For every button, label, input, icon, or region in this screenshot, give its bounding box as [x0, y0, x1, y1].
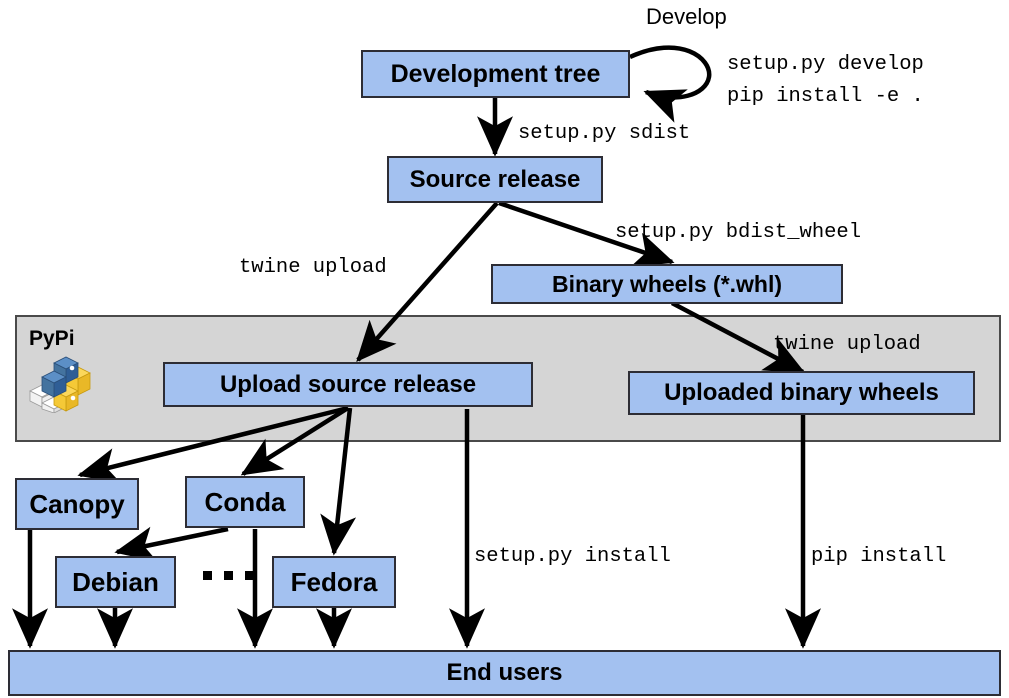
label-pip-install: pip install	[811, 544, 946, 571]
node-canopy[interactable]: Canopy	[15, 478, 139, 530]
node-conda[interactable]: Conda	[185, 476, 305, 528]
ellipsis-dot	[224, 571, 233, 580]
ellipsis-dots	[203, 571, 254, 580]
label-twine-upload-source: twine upload	[239, 255, 387, 282]
edge-conda-to-debian	[117, 529, 228, 552]
node-debian[interactable]: Debian	[55, 556, 176, 608]
label-develop: Develop	[646, 4, 727, 30]
label-develop-command-1: setup.py develop	[727, 52, 924, 79]
logo-eye-upper	[70, 366, 75, 371]
node-development-tree[interactable]: Development tree	[361, 50, 630, 98]
logo-eye-lower	[71, 396, 76, 401]
label-twine-upload-wheels: twine upload	[773, 332, 921, 359]
node-source-release[interactable]: Source release	[387, 156, 603, 203]
label-setup-py-bdist-wheel: setup.py bdist_wheel	[615, 220, 861, 247]
ellipsis-dot	[245, 571, 254, 580]
label-setup-py-sdist: setup.py sdist	[518, 121, 690, 148]
label-setup-py-install: setup.py install	[474, 544, 671, 571]
pypi-group-label: PyPi	[29, 327, 75, 351]
node-binary-wheels[interactable]: Binary wheels (*.whl)	[491, 264, 843, 304]
node-uploaded-binary-wheels[interactable]: Uploaded binary wheels	[628, 371, 975, 415]
label-develop-command-2: pip install -e .	[727, 84, 924, 111]
node-end-users[interactable]: End users	[8, 650, 1001, 696]
pypi-python-blocks-logo	[26, 355, 96, 413]
diagram-canvas: PyPi	[0, 0, 1009, 698]
ellipsis-dot	[203, 571, 212, 580]
node-fedora[interactable]: Fedora	[272, 556, 396, 608]
edge-develop-self-loop	[630, 48, 709, 98]
node-upload-source-release[interactable]: Upload source release	[163, 362, 533, 407]
pypi-logo-svg	[26, 355, 96, 413]
